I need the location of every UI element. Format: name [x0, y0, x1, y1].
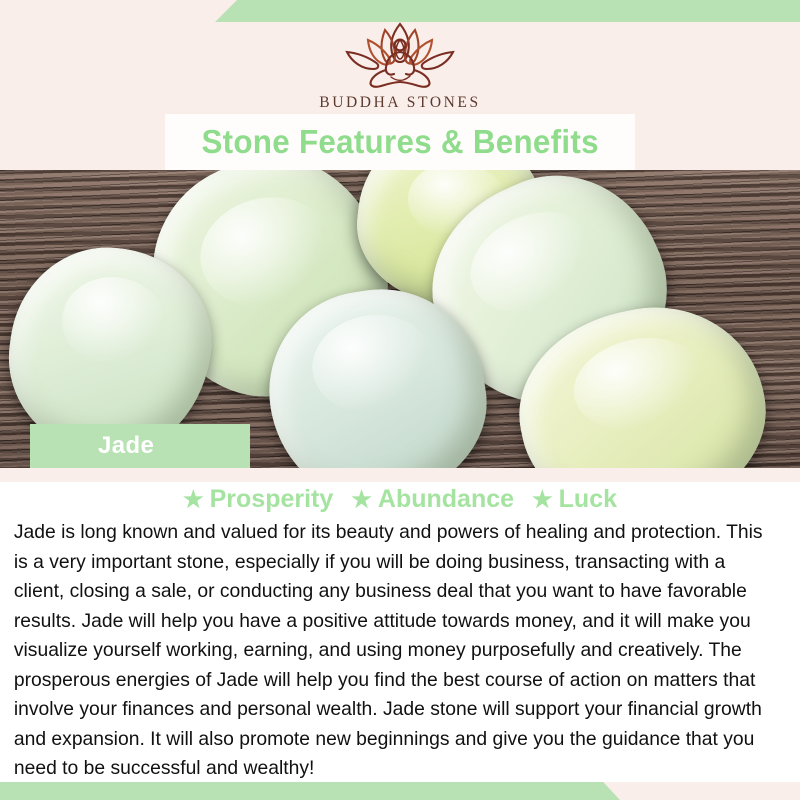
content-panel: ★ Prosperity ★ Abundance ★ Luck Jade is … [0, 482, 800, 782]
stone-name-label: Jade [98, 432, 154, 460]
benefit-item: ★ Abundance [351, 485, 514, 514]
page-title: Stone Features & Benefits [201, 123, 598, 161]
divider-strip [0, 468, 800, 482]
lotus-meditation-icon [325, 18, 475, 90]
star-icon: ★ [351, 488, 372, 511]
star-icon: ★ [532, 488, 553, 511]
benefits-row: ★ Prosperity ★ Abundance ★ Luck [0, 482, 800, 516]
brand-logo-block: BUDDHA STONES [0, 18, 800, 112]
benefit-item: ★ Prosperity [183, 485, 333, 514]
title-band: Stone Features & Benefits [165, 114, 635, 170]
benefit-label: Prosperity [210, 485, 334, 514]
star-icon: ★ [183, 488, 204, 511]
stone-name-tag: Jade [30, 424, 250, 468]
benefit-item: ★ Luck [532, 485, 617, 514]
brand-wordmark: BUDDHA STONES [0, 94, 800, 112]
description-text: Jade is long known and valued for its be… [0, 516, 792, 784]
benefit-label: Luck [559, 485, 617, 514]
benefit-label: Abundance [378, 485, 514, 514]
